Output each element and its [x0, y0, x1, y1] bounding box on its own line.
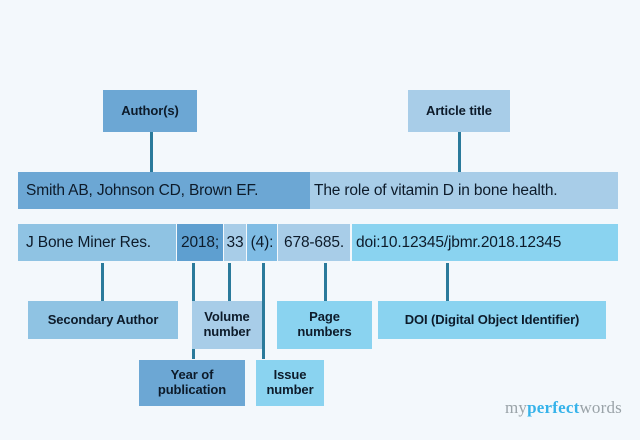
connector-secondary-author	[101, 263, 104, 301]
citation-segment-doi: doi:10.12345/jbmr.2018.12345	[352, 224, 618, 261]
citation-segment-issue: (4):	[247, 224, 277, 261]
citation-segment-volume: 33	[224, 224, 246, 261]
callout-secondary-author: Secondary Author	[28, 301, 178, 339]
callout-doi: DOI (Digital Object Identifier)	[378, 301, 606, 339]
citation-segment-article-title: The role of vitamin D in bone health.	[310, 172, 618, 209]
callout-authors-label: Author(s)	[121, 104, 179, 119]
brand-logo-part3: words	[579, 398, 622, 417]
callout-page-numbers-label: Page numbers	[297, 310, 351, 339]
connector-doi	[446, 263, 449, 301]
citation-doi-text: doi:10.12345/jbmr.2018.12345	[356, 234, 561, 251]
callout-year-of-publication-label: Year of publication	[158, 368, 226, 397]
callout-issue-number: Issue number	[256, 360, 324, 406]
citation-pages-text: 678-685.	[284, 234, 344, 251]
connector-issue	[262, 263, 265, 359]
citation-segment-year: 2018;	[177, 224, 223, 261]
callout-issue-number-label: Issue number	[266, 368, 313, 397]
citation-segment-journal: J Bone Miner Res.	[18, 224, 176, 261]
callout-year-of-publication: Year of publication	[139, 360, 245, 406]
callout-authors: Author(s)	[103, 90, 197, 132]
callout-page-numbers: Page numbers	[277, 301, 372, 349]
brand-logo-part1: my	[505, 398, 527, 417]
diagram-canvas: Author(s) Article title Smith AB, Johnso…	[0, 0, 640, 440]
connector-article-title	[458, 132, 461, 172]
citation-segment-authors: Smith AB, Johnson CD, Brown EF.	[18, 172, 310, 209]
callout-doi-label: DOI (Digital Object Identifier)	[405, 313, 580, 328]
citation-issue-text: (4):	[251, 234, 274, 251]
citation-authors-text: Smith AB, Johnson CD, Brown EF.	[26, 182, 258, 199]
callout-article-title-label: Article title	[426, 104, 492, 119]
citation-volume-text: 33	[227, 234, 244, 251]
citation-segment-pages: 678-685.	[278, 224, 350, 261]
callout-secondary-author-label: Secondary Author	[48, 313, 159, 328]
citation-article-title-text: The role of vitamin D in bone health.	[314, 182, 557, 199]
brand-logo: myperfectwords	[505, 398, 622, 418]
connector-page-numbers	[324, 263, 327, 301]
callout-article-title: Article title	[408, 90, 510, 132]
connector-authors	[150, 132, 153, 172]
brand-logo-part2: perfect	[527, 398, 579, 417]
citation-journal-text: J Bone Miner Res.	[26, 234, 151, 251]
callout-volume-number: Volume number	[192, 301, 262, 349]
callout-volume-number-label: Volume number	[203, 310, 250, 339]
connector-volume	[228, 263, 231, 301]
citation-year-text: 2018;	[181, 234, 219, 251]
